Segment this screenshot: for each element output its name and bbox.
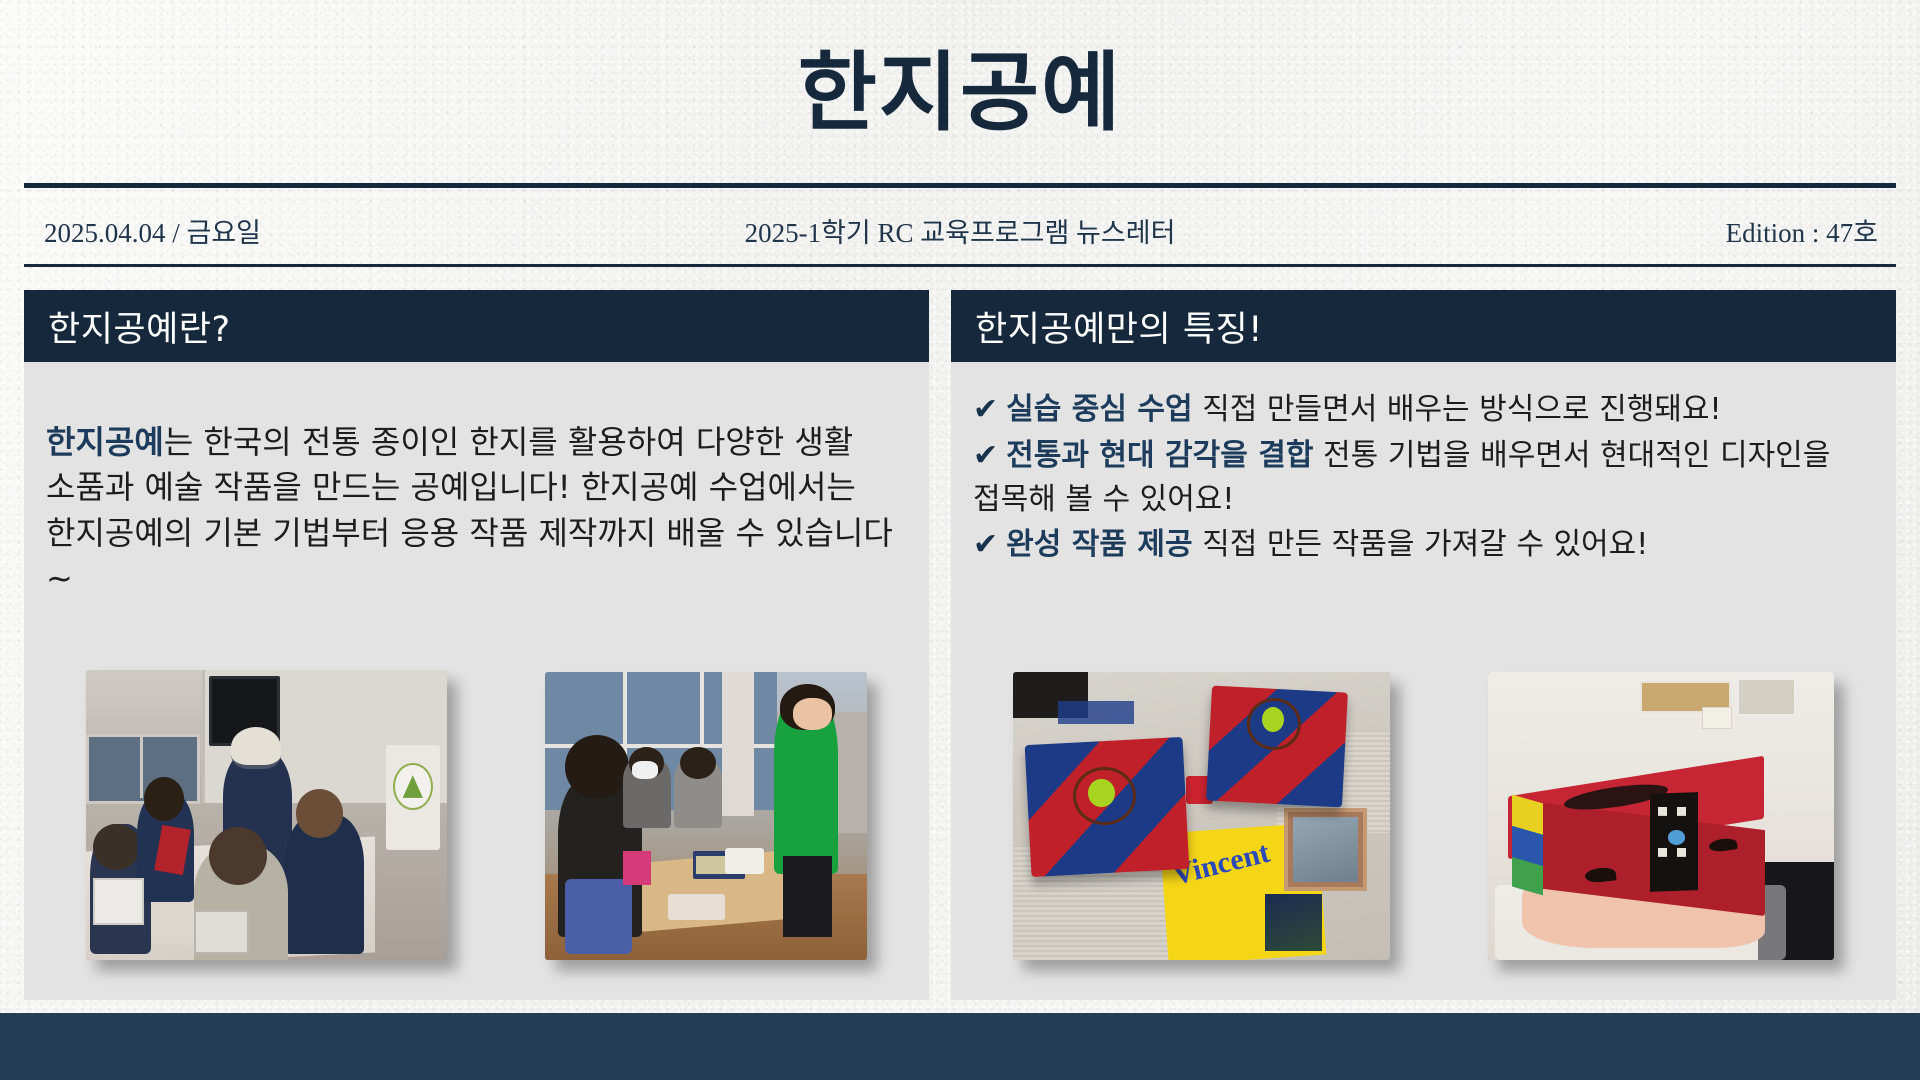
check-icon: ✔ [973, 392, 998, 427]
feature-item: ✔전통과 현대 감각을 결합 전통 기법을 배우면서 현대적인 디자인을 접목해… [973, 434, 1874, 522]
feature-item: ✔완성 작품 제공 직접 만든 작품을 가져갈 수 있어요! [973, 523, 1874, 567]
panel-body-left: 한지공예는 한국의 전통 종이인 한지를 활용하여 다양한 생활 소품과 예술 … [24, 362, 929, 634]
content-columns: 한지공예란? 한지공예는 한국의 전통 종이인 한지를 활용하여 다양한 생활 … [24, 290, 1896, 1000]
hanji-tissue-box-photo-art [1488, 672, 1834, 960]
edition-label: Edition : 47호 [1726, 211, 1878, 250]
panel-header-left-label: 한지공예란? [48, 301, 231, 352]
instructor-teaching-photo-art [545, 672, 867, 960]
feature-item: ✔실습 중심 수업 직접 만들면서 배우는 방식으로 진행돼요! [973, 388, 1874, 432]
feature-item-text: 직접 만든 작품을 가져갈 수 있어요! [1193, 527, 1649, 562]
masthead-divider-top [24, 183, 1896, 188]
masthead-divider-bottom [24, 264, 1896, 267]
workshop-classroom-photo [86, 670, 447, 960]
masthead-meta-row: 2025.04.04 / 금요일 2025-1학기 RC 교육프로그램 뉴스레터… [24, 211, 1896, 255]
panel-header-right-label: 한지공예만의 특징! [975, 301, 1263, 352]
feature-list: ✔실습 중심 수업 직접 만들면서 배우는 방식으로 진행돼요! ✔전통과 현대… [973, 388, 1874, 567]
intro-paragraph-lead: 한지공예 [46, 423, 164, 461]
instructor-teaching-photo [545, 672, 867, 960]
footer-bar [0, 1013, 1920, 1080]
publication-subtitle: 2025-1학기 RC 교육프로그램 뉴스레터 [24, 211, 1896, 250]
panel-body-right: ✔실습 중심 수업 직접 만들면서 배우는 방식으로 진행돼요! ✔전통과 현대… [951, 362, 1896, 569]
intro-paragraph-rest: 는 한국의 전통 종이인 한지를 활용하여 다양한 생활 소품과 예술 작품을 … [46, 423, 893, 597]
newsletter-page: 한지공예 2025.04.04 / 금요일 2025-1학기 RC 교육프로그램… [0, 0, 1920, 1080]
hanji-tissue-box-photo [1488, 672, 1834, 960]
photo-row-left [46, 654, 907, 976]
panel-header-right: 한지공예만의 특징! [951, 290, 1896, 362]
feature-item-strong: 전통과 현대 감각을 결합 [1006, 438, 1313, 473]
feature-item-strong: 완성 작품 제공 [1006, 527, 1193, 562]
panel-what-is-hanji: 한지공예란? 한지공예는 한국의 전통 종이인 한지를 활용하여 다양한 생활 … [24, 290, 929, 1000]
hanji-boxes-photo-art: Vincent [1013, 672, 1390, 960]
hanji-boxes-photo: Vincent [1013, 672, 1390, 960]
feature-item-strong: 실습 중심 수업 [1006, 392, 1193, 427]
check-icon: ✔ [973, 438, 998, 473]
intro-paragraph: 한지공예는 한국의 전통 종이인 한지를 활용하여 다양한 생활 소품과 예술 … [46, 420, 907, 602]
panel-header-left: 한지공예란? [24, 290, 929, 362]
workshop-classroom-photo-art [86, 670, 447, 960]
photo-row-right: Vincent [973, 656, 1874, 976]
panel-hanji-features: 한지공예만의 특징! ✔실습 중심 수업 직접 만들면서 배우는 방식으로 진행… [951, 290, 1896, 1000]
check-icon: ✔ [973, 527, 998, 562]
feature-item-text: 직접 만들면서 배우는 방식으로 진행돼요! [1193, 392, 1722, 427]
page-title: 한지공예 [0, 48, 1920, 138]
